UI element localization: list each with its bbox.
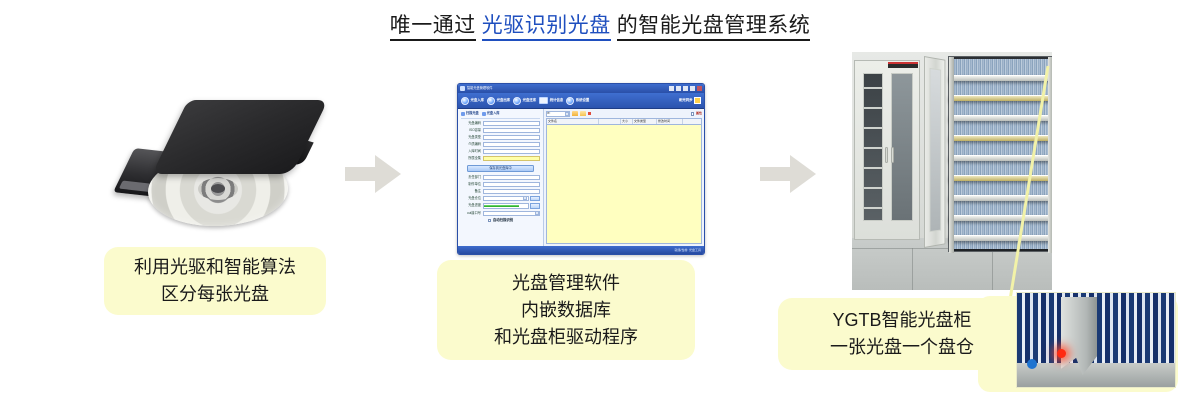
floor-line-2 [912,248,913,290]
toolbar-item-sync[interactable]: 刷光同步 [679,97,701,104]
scan-icon [461,112,465,116]
adj-shelf-5 [864,167,882,169]
extra-label-1: 制作单位 [461,182,481,187]
row-disc-progress[interactable]: 光盘进度 [461,203,540,209]
arrow-right-icon-1 [345,155,405,193]
extra-input-1[interactable] [483,182,540,187]
col-filename: 文件名 [547,119,599,124]
toolbar-label-1: 光盘出库 [497,98,511,103]
extra-input-0[interactable] [483,175,540,180]
status-text: 就绪/当前: 光盘工具 [674,248,701,253]
title-part-1: 唯一通过 [390,14,476,41]
rack-shelf-7 [949,195,1052,201]
rack-shelf-6 [949,175,1052,181]
drive-select-value: F: [548,111,551,116]
caption-3-line-2: 一张光盘一个盘仓 [830,334,974,361]
window-titlebar: 智能光盘管理软件 [458,84,704,93]
field-input-3[interactable] [483,142,540,147]
out-port-select[interactable] [483,211,541,217]
stats-icon [539,97,548,104]
col-blank [599,119,621,124]
file-browser-toolbar[interactable]: F: 属性 [546,111,702,117]
field-department[interactable]: 责任部门 [461,175,540,180]
field-producer[interactable]: 制作单位 [461,182,540,187]
select-label-1: 光盘进度 [461,203,481,208]
window-title: 智能光盘管理软件 [467,86,493,91]
cabinet-handle-left [885,147,888,163]
disc-out-icon [487,97,495,105]
minimize-button[interactable] [683,86,688,91]
checkbox-box-icon-2 [691,112,695,116]
cabinet-open-door [924,56,945,248]
rack-shelf-3 [949,115,1052,121]
field-in-time[interactable]: 入库时间 [461,149,540,154]
rack-post-right [1048,57,1052,253]
chevron-down-icon-3 [565,112,569,116]
progress-bar [483,203,529,209]
stop-icon[interactable] [588,112,591,115]
select-label-0: 光盘仓位 [461,196,481,201]
file-list-table[interactable]: 文件名 大小 文件类型 修改时间 [546,118,702,244]
arrow-shaft-2 [760,167,794,181]
adj-shelf-3 [864,127,882,129]
arrow-head-2 [790,155,816,193]
arrow-right-icon-2 [760,155,820,193]
caption-box-1: 利用光驱和智能算法 区分每张光盘 [104,247,326,315]
disc-return-icon [513,97,521,105]
slot-base [1017,363,1176,387]
window-body: 扫描光盘 光盘入库 光盘编码 ISO容量 光盘类型 [458,109,704,246]
toolbar-label-0: 光盘入库 [471,98,485,103]
toolbar-item-disc-out[interactable]: 光盘出库 [487,97,510,105]
door-glass-pane [930,68,942,232]
disc-in-small-icon [482,112,486,116]
select-label-2: out接口号 [461,211,481,216]
chevron-down-icon [523,196,527,200]
page-title: 唯一通过光驱识别光盘的智能光盘管理系统 [0,12,1200,40]
title-highlight: 光驱识别光盘 [482,14,611,41]
gear-icon [566,97,574,105]
toolbar-label-5: 刷光同步 [679,98,693,103]
floor-line-3 [992,248,993,290]
rack-shelf-1 [949,75,1052,81]
tab-disc-in[interactable]: 光盘入库 [482,111,500,116]
red-led-indicator [1057,349,1066,358]
blue-indicator-dot [1027,359,1037,369]
adj-shelf-6 [864,187,882,189]
drive-select[interactable]: F: [546,111,570,117]
caption-1-line-1: 利用光驱和智能算法 [134,254,296,281]
rack-post-left [949,57,954,253]
app-logo-icon [460,86,465,91]
adj-shelf-7 [864,207,882,209]
col-size: 大小 [621,119,633,124]
toolbar-label-3: 统计信息 [550,98,564,103]
caption-1-line-2: 区分每张光盘 [161,281,269,308]
sync-icon [694,97,701,104]
tab-label-1: 光盘入库 [487,111,500,116]
toolbar-item-disc-return[interactable]: 光盘还库 [513,97,536,105]
layer-stepper[interactable] [530,203,540,209]
disc-management-software-window[interactable]: 智能光盘管理软件 光盘入库 光盘出库 光盘还库 [457,83,705,255]
save-to-library-button[interactable]: 保存到光盘库中 [467,165,534,172]
row-disc-slot[interactable]: 光盘仓位 [461,196,540,202]
external-dvd-drive-photo [112,98,330,220]
slide-canvas: 唯一通过光驱识别光盘的智能光盘管理系统 利用光驱和智能算法 区分每张光盘 智能光… [0,0,1200,400]
close-button[interactable] [697,86,702,91]
disc-rack [948,56,1052,252]
caption-3-line-1: YGTB智能光盘柜 [832,307,971,334]
field-label-5: 所属全集 [461,156,481,161]
cabinet-glass-right [891,73,913,221]
field-input-2[interactable] [483,135,540,140]
adj-shelf-2 [864,107,882,109]
field-iso-size[interactable]: ISO容量 [461,128,540,133]
toolbar-item-settings[interactable]: 系统设置 [566,97,589,105]
disc-hub-hole [211,184,225,193]
tab-label-0: 扫描光盘 [466,111,479,116]
window-controls[interactable] [669,86,702,91]
title-part-2: 的智能光盘管理系统 [617,14,811,41]
rack-shelf-5 [949,155,1052,161]
field-input-0[interactable] [483,121,540,126]
caption-2-line-2: 内嵌数据库 [521,297,611,324]
tab-scan-disc[interactable]: 扫描光盘 [461,111,479,116]
refresh-button[interactable] [530,196,540,202]
panel-tabs[interactable]: 扫描光盘 光盘入库 [461,111,540,119]
field-disc-code[interactable]: 光盘编码 [461,121,540,126]
adj-shelf-1 [864,87,882,89]
disc-in-icon [461,97,469,105]
folder-icon[interactable] [572,111,578,116]
caption-box-2: 光盘管理软件 内嵌数据库 和光盘柜驱动程序 [437,260,695,360]
rack-shelf-8 [949,215,1052,221]
chevron-down-icon-2 [535,211,539,215]
progress-fill [484,205,519,208]
rack-shelf-2 [949,95,1052,101]
toolbar-item-disc-in[interactable]: 光盘入库 [461,97,484,105]
field-label-1: ISO容量 [461,128,481,133]
rack-shelf-9 [949,235,1052,241]
disc-slot-select[interactable] [483,196,529,202]
auto-scan-label: 自动扫描识别 [493,218,513,223]
caption-2-line-1: 光盘管理软件 [512,270,620,297]
col-type: 文件类型 [633,119,657,124]
field-disc-type[interactable]: 光盘类型 [461,135,540,140]
cabinet-top-label [888,62,918,68]
status-bar: 就绪/当前: 光盘工具 [458,246,704,255]
folder-open-icon[interactable] [580,111,586,116]
caption-2-line-3: 和光盘柜驱动程序 [494,324,638,351]
toolbar-label-4: 系统设置 [576,98,590,103]
field-remark[interactable]: 备注 [461,189,540,194]
toolbar-label-2: 光盘还库 [523,98,537,103]
left-form-panel[interactable]: 扫描光盘 光盘入库 光盘编码 ISO容量 光盘类型 [458,109,544,246]
maximize-button[interactable] [690,86,695,91]
arrow-head [375,155,401,193]
disc-cabinet-photo [852,52,1052,290]
user-button[interactable] [669,86,674,91]
main-toolbar[interactable]: 光盘入库 光盘出库 光盘还库 统计信息 系统设置 刷光同步 [458,93,704,109]
adj-shelf-4 [864,147,882,149]
field-media-code[interactable]: 介质编码 [461,142,540,147]
robot-arm [1061,297,1097,375]
extra-label-0: 责任部门 [461,175,481,180]
cabinet-handle-right [891,147,894,163]
attribute-checkbox[interactable]: 属性 [691,111,702,116]
field-label-4: 入库时间 [461,149,481,154]
auto-scan-checkbox[interactable]: 自动扫描识别 [461,218,540,223]
disc-slot-closeup-photo [1016,292,1176,388]
field-label-2: 光盘类型 [461,135,481,140]
file-list-body[interactable] [547,125,701,243]
rack-shelf-4 [949,135,1052,141]
extra-label-2: 备注 [461,189,481,194]
row-out-port[interactable]: out接口号 [461,211,540,217]
adjacent-cabinet [854,60,920,240]
field-label-0: 光盘编码 [461,121,481,126]
file-browser-panel[interactable]: F: 属性 文件名 大小 文件类型 [544,109,704,246]
field-input-4[interactable] [483,149,540,154]
field-collection[interactable]: 所属全集 [461,156,540,161]
field-input-5[interactable] [483,156,540,161]
arrow-shaft [345,167,379,181]
extra-input-2[interactable] [483,189,540,194]
checkbox-box-icon [488,219,492,223]
help-button[interactable] [676,86,681,91]
col-modified: 修改时间 [657,119,683,124]
toolbar-item-stats[interactable]: 统计信息 [539,97,563,104]
field-label-3: 介质编码 [461,142,481,147]
field-input-1[interactable] [483,128,540,133]
attribute-label: 属性 [696,111,702,116]
